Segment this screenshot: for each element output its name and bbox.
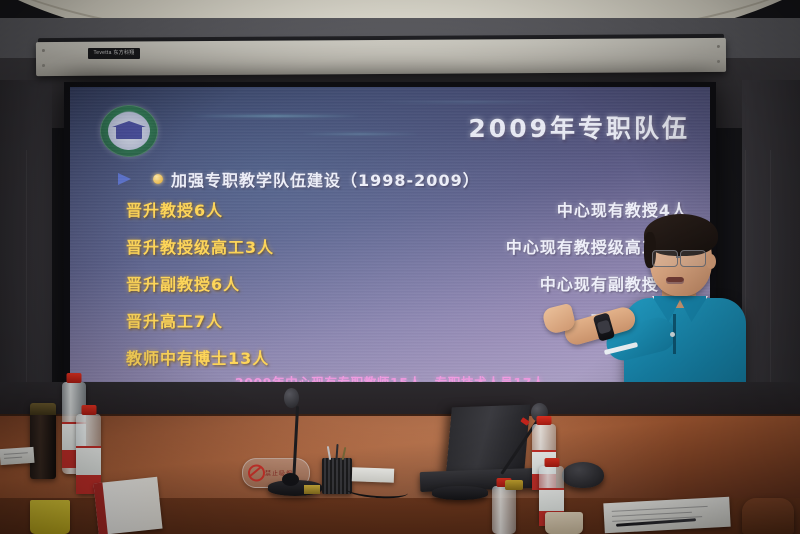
light-streak [370,101,570,103]
lecture-room-photo: Tevetta 东方科翔 2009年专职队伍 加强专职教学队伍建设（1998-2… [0,0,800,534]
microphone-joint [282,473,299,486]
projector-brand-label: Tevetta 东方科翔 [88,48,140,59]
university-logo-icon [100,105,158,157]
slide-bullet-row: 加强专职教学队伍建设（1998-2009） [118,167,480,191]
presenter-ear [706,254,716,269]
bottle-cap [67,373,82,383]
light-streak [190,115,360,117]
left-column-line: 教师中有博士13人 [126,345,391,369]
glasses-icon [680,250,706,267]
thermos-cap [30,403,56,415]
chair-back[interactable] [742,498,794,534]
laptop-screen[interactable] [446,405,530,476]
small-box [304,485,320,494]
beige-cup[interactable] [545,512,583,534]
document-papers[interactable] [352,467,394,482]
water-bottle[interactable] [492,486,516,534]
left-column: 晋升教授6人 晋升教授级高工3人 晋升副教授6人 晋升高工7人 教师中有博士13… [126,197,391,382]
watch-face [597,320,612,335]
screw [717,60,720,63]
screw [717,45,720,48]
left-column-line: 晋升副教授6人 [126,271,391,295]
thermos-flask[interactable] [30,403,56,479]
bullet-dot-icon [153,174,163,184]
no-smoking-icon [248,465,265,482]
desk-microphone[interactable] [432,486,488,500]
slide-bullet-text: 加强专职教学队伍建设（1998-2009） [171,167,480,191]
logo-ring [100,105,158,157]
keys [505,480,523,490]
shirt-button [670,332,675,337]
microphone-head [284,388,299,408]
computer-mouse[interactable] [562,462,604,488]
document-papers[interactable] [0,447,35,465]
screw [42,49,45,52]
glasses-icon [652,250,678,267]
screw [42,64,45,67]
yellow-cup[interactable] [30,500,70,534]
left-column-line: 晋升教授6人 [126,197,391,221]
bottle-cap [544,458,559,467]
name-card[interactable] [93,477,162,534]
presenter-mouth [666,277,684,284]
slide-title: 2009年专职队伍 [468,109,690,145]
left-column-line: 晋升教授级高工3人 [126,234,391,258]
arrow-icon [118,173,131,185]
bottle-cap [81,405,96,415]
left-column-line: 晋升高工7人 [126,308,391,332]
bottle-cap [537,416,552,425]
glasses-bridge [676,256,681,258]
light-streak [300,133,420,135]
